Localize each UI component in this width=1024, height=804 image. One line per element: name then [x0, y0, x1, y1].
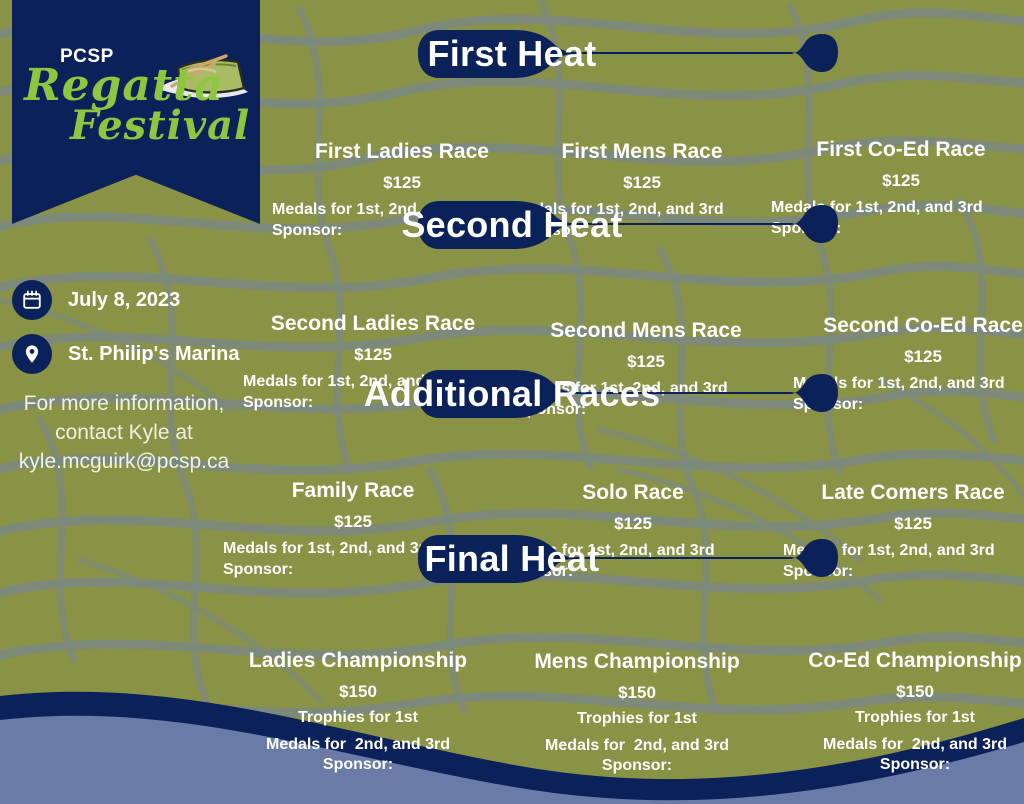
event-location: St. Philip's Marina	[68, 343, 239, 366]
race-award-line: Medals for 2nd, and 3rd	[228, 735, 488, 755]
race-price: $125	[512, 173, 772, 193]
heat-header: Second Heat	[0, 199, 1024, 257]
race-price: $150	[228, 682, 488, 702]
logo-festival-text: Festival	[70, 102, 250, 149]
race-price: $150	[507, 683, 767, 703]
race-name: Co-Ed Championship	[785, 649, 1024, 674]
regatta-poster: PCSP Regatta Festival July 8, 2023	[0, 0, 1024, 804]
race-price: $125	[793, 347, 1024, 367]
race-card: Ladies Championship $150 Trophies for 1s…	[228, 649, 488, 776]
event-date-row: July 8, 2023	[0, 280, 262, 320]
race-price: $125	[243, 345, 503, 365]
race-award-line: Trophies for 1st	[785, 708, 1024, 728]
race-sponsor: Sponsor:	[228, 755, 488, 775]
race-award-line: Medals for 2nd, and 3rd	[507, 736, 767, 756]
race-award-line: Medals for 2nd, and 3rd	[785, 735, 1024, 755]
heat-section: Final Heat Ladies Championship $150 Trop…	[0, 533, 1024, 701]
race-price: $150	[785, 682, 1024, 702]
race-name: Late Comers Race	[783, 481, 1024, 506]
race-card: Co-Ed Championship $150 Trophies for 1st…	[785, 649, 1024, 776]
contact-info: For more information, contact Kyle at ky…	[0, 390, 248, 477]
race-name: Mens Championship	[507, 650, 767, 675]
location-badge	[12, 334, 52, 374]
race-name: Family Race	[223, 479, 483, 504]
race-name: Ladies Championship	[228, 649, 488, 674]
logo: PCSP Regatta Festival	[12, 46, 260, 156]
race-price: $125	[223, 512, 483, 532]
race-price: $125	[771, 171, 1024, 191]
race-sponsor: Sponsor:	[785, 755, 1024, 775]
race-name: Second Ladies Race	[243, 312, 503, 337]
calendar-icon	[21, 289, 43, 311]
map-pin-icon	[21, 343, 43, 365]
heat-title: Second Heat	[0, 199, 1024, 251]
race-name: First Mens Race	[512, 140, 772, 165]
race-name: Solo Race	[503, 481, 763, 506]
race-award-line: Trophies for 1st	[507, 709, 767, 729]
event-date: July 8, 2023	[68, 289, 180, 312]
race-name: Second Co-Ed Race	[793, 314, 1024, 339]
race-price: $125	[272, 173, 532, 193]
race-name: First Co-Ed Race	[771, 138, 1024, 163]
race-name: First Ladies Race	[272, 140, 532, 165]
race-award-line: Trophies for 1st	[228, 708, 488, 728]
heat-title: Final Heat	[0, 533, 1024, 585]
race-name: Second Mens Race	[516, 319, 776, 344]
race-price: $125	[783, 514, 1024, 534]
race-card: Mens Championship $150 Trophies for 1stM…	[507, 650, 767, 777]
event-info: July 8, 2023 St. Philip's Marina For mor…	[0, 280, 262, 477]
event-location-row: St. Philip's Marina	[0, 334, 262, 374]
heat-header: Final Heat	[0, 533, 1024, 591]
race-sponsor: Sponsor:	[507, 756, 767, 776]
calendar-badge	[12, 280, 52, 320]
race-columns: Ladies Championship $150 Trophies for 1s…	[0, 591, 1024, 701]
race-price: $125	[503, 514, 763, 534]
